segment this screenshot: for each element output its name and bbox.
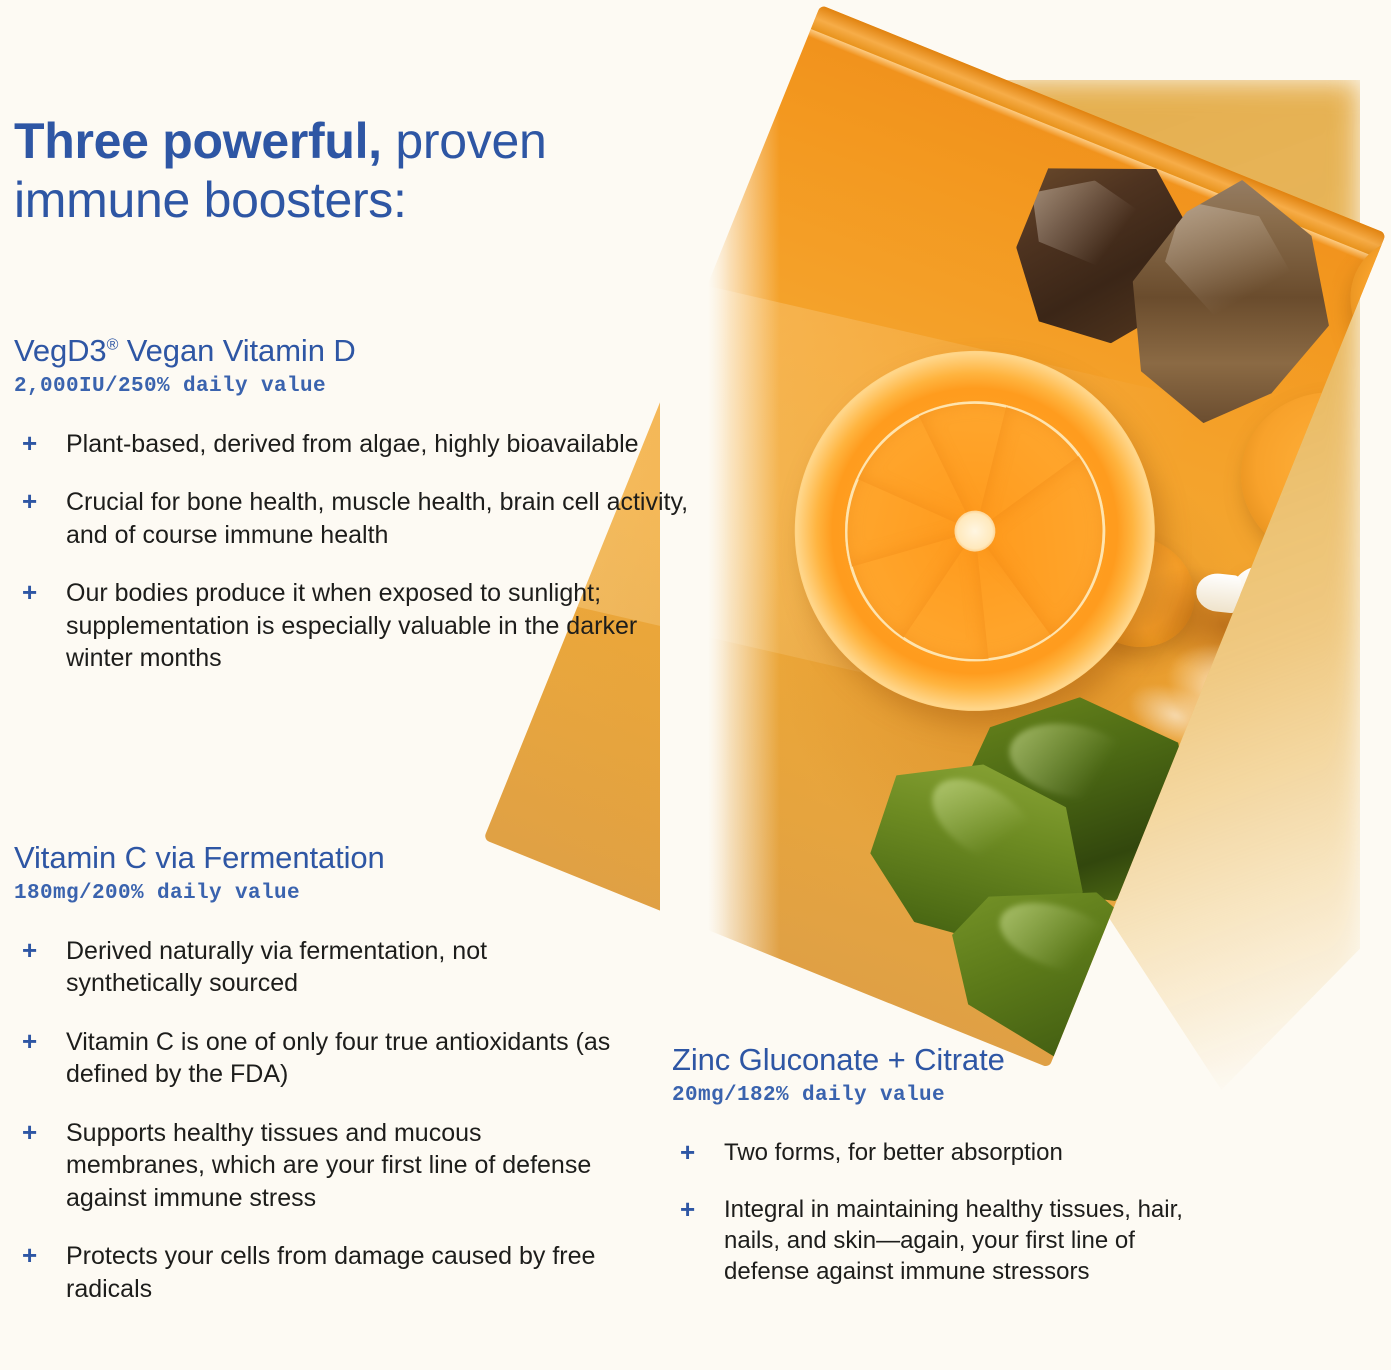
bullet-list-zinc: +Two forms, for better absorption +Integ… <box>672 1137 1212 1288</box>
list-item-text: Protects your cells from damage caused b… <box>66 1242 595 1303</box>
section-zinc: Zinc Gluconate + Citrate 20mg/182% daily… <box>672 1042 1212 1313</box>
page-title-bold: Three powerful, <box>14 113 382 169</box>
list-item-text: Crucial for bone health, muscle health, … <box>66 488 688 549</box>
plus-icon: + <box>22 427 37 461</box>
list-item: +Protects your cells from damage caused … <box>14 1240 614 1305</box>
section-title-main: Vitamin C via Fermentation <box>14 840 385 875</box>
section-title-zinc: Zinc Gluconate + Citrate <box>672 1042 1212 1078</box>
plus-icon: + <box>22 1116 37 1150</box>
section-vitamin-c: Vitamin C via Fermentation 180mg/200% da… <box>14 840 614 1331</box>
registered-trademark-icon: ® <box>107 337 119 354</box>
plus-icon: + <box>22 576 37 610</box>
list-item-text: Vitamin C is one of only four true antio… <box>66 1028 610 1089</box>
list-item-text: Two forms, for better absorption <box>724 1139 1063 1166</box>
section-dosage-vitamin-c: 180mg/200% daily value <box>14 882 614 905</box>
list-item-text: Supports healthy tissues and mucous memb… <box>66 1119 591 1212</box>
list-item-text: Our bodies produce it when exposed to su… <box>66 579 637 672</box>
plus-icon: + <box>22 1025 37 1059</box>
plus-icon: + <box>22 1239 37 1273</box>
plus-icon: + <box>680 1193 695 1227</box>
list-item-text: Integral in maintaining healthy tissues,… <box>724 1196 1183 1285</box>
plus-icon: + <box>22 934 37 968</box>
list-item: +Integral in maintaining healthy tissues… <box>672 1194 1212 1288</box>
product-ingredients-panel: Three powerful, proven immune boosters: … <box>0 0 1391 1370</box>
list-item: +Crucial for bone health, muscle health,… <box>14 486 694 551</box>
section-title-rest: Vegan Vitamin D <box>118 333 355 368</box>
section-title-vitamin-c: Vitamin C via Fermentation <box>14 840 614 876</box>
plus-icon: + <box>22 485 37 519</box>
list-item: +Two forms, for better absorption <box>672 1137 1212 1168</box>
section-title-vegd3: VegD3® Vegan Vitamin D <box>14 333 694 369</box>
section-title-main: VegD3 <box>14 333 107 368</box>
bullet-list-vegd3: +Plant-based, derived from algae, highly… <box>14 428 694 675</box>
plus-icon: + <box>680 1136 695 1170</box>
list-item: +Derived naturally via fermentation, not… <box>14 935 614 1000</box>
section-dosage-zinc: 20mg/182% daily value <box>672 1084 1212 1107</box>
list-item: +Vitamin C is one of only four true anti… <box>14 1026 614 1091</box>
section-dosage-vegd3: 2,000IU/250% daily value <box>14 375 694 398</box>
section-vegd3: VegD3® Vegan Vitamin D 2,000IU/250% dail… <box>14 333 694 701</box>
section-title-main: Zinc Gluconate + Citrate <box>672 1042 1005 1077</box>
list-item-text: Derived naturally via fermentation, not … <box>66 937 487 998</box>
list-item: +Our bodies produce it when exposed to s… <box>14 577 694 675</box>
list-item-text: Plant-based, derived from algae, highly … <box>66 430 639 458</box>
page-title: Three powerful, proven immune boosters: <box>14 112 714 230</box>
bullet-list-vitamin-c: +Derived naturally via fermentation, not… <box>14 935 614 1306</box>
list-item: +Supports healthy tissues and mucous mem… <box>14 1117 614 1215</box>
list-item: +Plant-based, derived from algae, highly… <box>14 428 694 461</box>
